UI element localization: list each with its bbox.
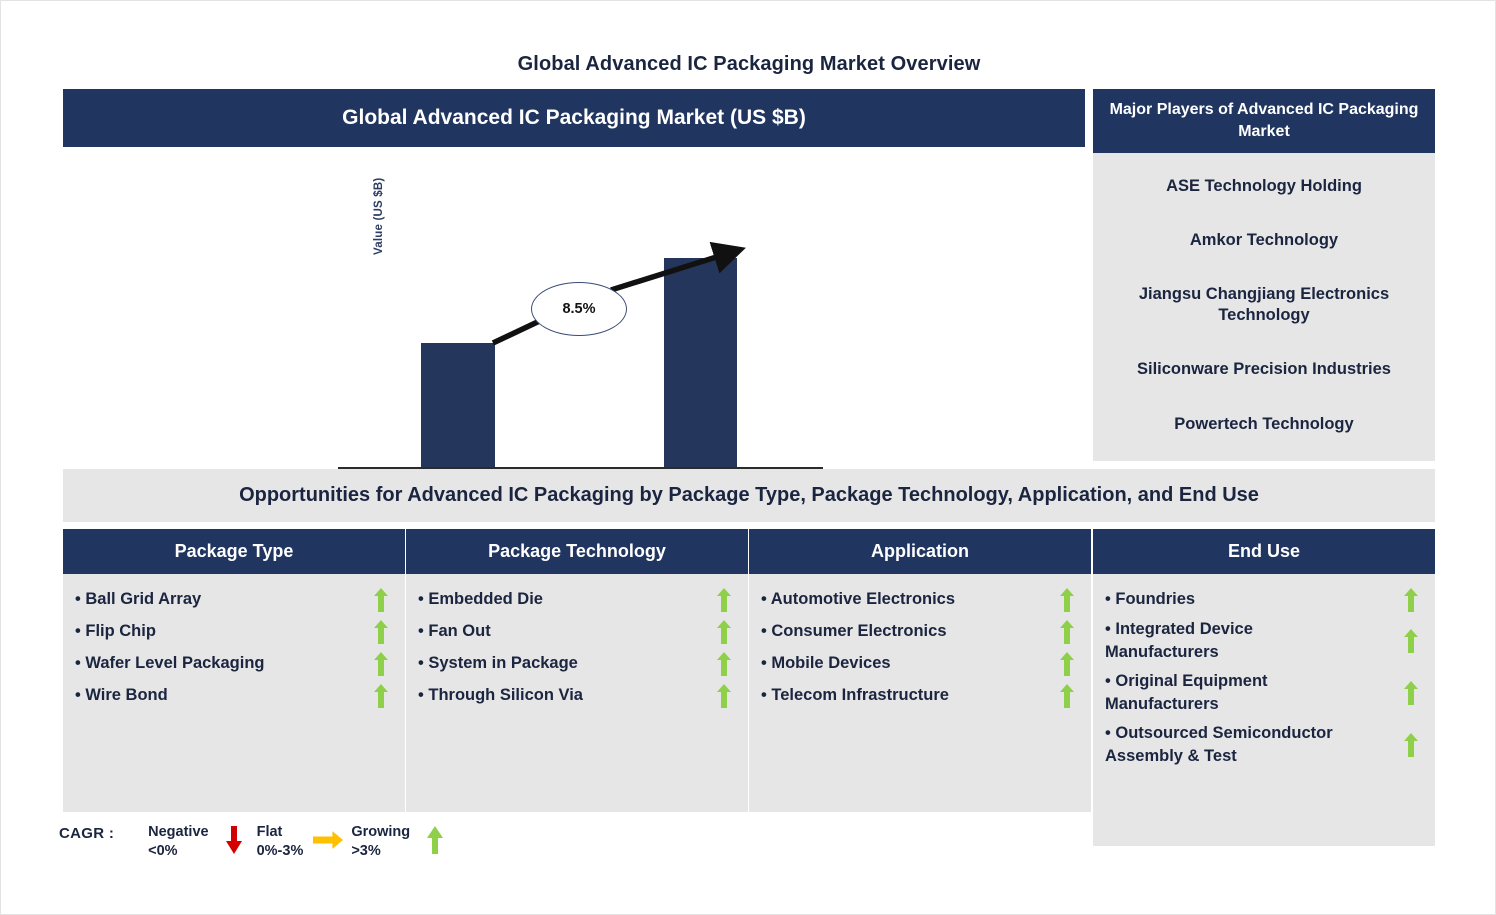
- column-header-application: Application: [749, 529, 1091, 574]
- trend-arrow-up-icon: [369, 620, 393, 644]
- arrow-down-red-icon: [219, 823, 249, 857]
- list-item-line1: • Outsourced Semiconductor: [1105, 722, 1333, 745]
- list-item-label: • Fan Out: [418, 620, 499, 643]
- legend-entry-text: Growing >3%: [351, 823, 410, 861]
- list-item: Siliconware Precision Industries: [1103, 359, 1425, 380]
- trend-arrow-up-icon: [1055, 620, 1079, 644]
- legend-entry-label: Negative: [148, 824, 208, 840]
- trend-arrow-up-icon: [369, 588, 393, 612]
- trend-arrow-up-icon: [1055, 652, 1079, 676]
- chart-y-axis-label: Value (US $B): [373, 135, 385, 255]
- trend-arrow-up-icon: [369, 652, 393, 676]
- list-item-label: • Outsourced Semiconductor Assembly & Te…: [1105, 722, 1341, 769]
- market-chart-panel: Global Advanced IC Packaging Market (US …: [63, 89, 1085, 461]
- list-item-label: • System in Package: [418, 652, 586, 675]
- list-item: • Automotive Electronics: [761, 586, 1079, 613]
- column-package-type: Package Type • Ball Grid Array • Flip Ch…: [63, 529, 405, 812]
- column-body-application: • Automotive Electronics • Consumer Elec…: [749, 574, 1091, 812]
- arrow-up-green-icon: [420, 823, 450, 857]
- market-chart-header-label: Global Advanced IC Packaging Market (US …: [342, 106, 806, 130]
- column-header-label: Package Technology: [488, 541, 666, 562]
- list-item: • Wafer Level Packaging: [75, 650, 393, 677]
- bar-2025: [421, 343, 495, 467]
- market-chart-body: Value (US $B) 2025 2031 8.5% Source : Lu…: [63, 147, 1085, 461]
- bar-2031: [664, 258, 737, 467]
- legend-entry-growing: Growing >3%: [351, 823, 450, 861]
- legend-entry-text: Flat 0%-3%: [257, 823, 304, 861]
- trend-arrow-up-icon: [712, 588, 736, 612]
- list-item: • Outsourced Semiconductor Assembly & Te…: [1105, 722, 1423, 769]
- cagr-value-bubble: 8.5%: [531, 282, 627, 336]
- list-item: • Ball Grid Array: [75, 586, 393, 613]
- column-package-technology: Package Technology • Embedded Die • Fan …: [406, 529, 748, 812]
- column-end-use: End Use • Foundries • Integrated Device …: [1093, 529, 1435, 846]
- list-item-label: • Foundries: [1105, 588, 1203, 611]
- list-item: • Consumer Electronics: [761, 618, 1079, 645]
- major-players-header-label: Major Players of Advanced IC Packaging M…: [1110, 101, 1419, 140]
- page-title: Global Advanced IC Packaging Market Over…: [1, 53, 1496, 76]
- list-item: ASE Technology Holding: [1103, 176, 1425, 197]
- column-header-package-technology: Package Technology: [406, 529, 748, 574]
- list-item: Amkor Technology: [1103, 230, 1425, 251]
- arrow-right-yellow-icon: [313, 823, 343, 857]
- cagr-legend-title: CAGR :: [59, 823, 114, 842]
- trend-arrow-up-icon: [1399, 629, 1423, 653]
- list-item-label: • Integrated Device Manufacturers: [1105, 618, 1261, 665]
- column-body-end-use: • Foundries • Integrated Device Manufact…: [1093, 574, 1435, 846]
- list-item-label: • Ball Grid Array: [75, 588, 209, 611]
- trend-arrow-up-icon: [1055, 588, 1079, 612]
- trend-arrow-up-icon: [712, 652, 736, 676]
- list-item-label: • Flip Chip: [75, 620, 164, 643]
- legend-entry-flat: Flat 0%-3%: [257, 823, 344, 861]
- list-item: • Fan Out: [418, 618, 736, 645]
- list-item: • Wire Bond: [75, 682, 393, 709]
- column-header-label: End Use: [1228, 541, 1300, 562]
- cagr-value-label: 8.5%: [562, 301, 595, 317]
- major-players-list: ASE Technology Holding Amkor Technology …: [1093, 153, 1435, 461]
- market-chart-header: Global Advanced IC Packaging Market (US …: [63, 89, 1085, 147]
- list-item-line1: • Original Equipment: [1105, 670, 1268, 693]
- list-item: • Foundries: [1105, 586, 1423, 613]
- list-item: • Through Silicon Via: [418, 682, 736, 709]
- list-item: • Integrated Device Manufacturers: [1105, 618, 1423, 665]
- list-item-label: • Telecom Infrastructure: [761, 684, 957, 707]
- list-item: • Flip Chip: [75, 618, 393, 645]
- column-header-package-type: Package Type: [63, 529, 405, 574]
- list-item-label: • Original Equipment Manufacturers: [1105, 670, 1276, 717]
- major-players-header: Major Players of Advanced IC Packaging M…: [1093, 89, 1435, 153]
- trend-arrow-up-icon: [1399, 681, 1423, 705]
- legend-entry-range: <0%: [148, 842, 208, 861]
- list-item-line2: Manufacturers: [1105, 641, 1253, 664]
- list-item-line2: Manufacturers: [1105, 693, 1268, 716]
- trend-arrow-up-icon: [712, 684, 736, 708]
- list-item: • Embedded Die: [418, 586, 736, 613]
- legend-entry-range: >3%: [351, 842, 410, 861]
- list-item: • Telecom Infrastructure: [761, 682, 1079, 709]
- list-item-line1: • Foundries: [1105, 590, 1195, 608]
- trend-arrow-up-icon: [712, 620, 736, 644]
- list-item: Powertech Technology: [1103, 414, 1425, 435]
- list-item-line1: • Integrated Device: [1105, 618, 1253, 641]
- trend-arrow-up-icon: [1055, 684, 1079, 708]
- column-header-label: Application: [871, 541, 969, 562]
- trend-arrow-up-icon: [369, 684, 393, 708]
- list-item: Jiangsu Changjiang Electronics Technolog…: [1103, 284, 1425, 325]
- column-body-package-type: • Ball Grid Array • Flip Chip • Wafer Le…: [63, 574, 405, 812]
- infographic-page: Global Advanced IC Packaging Market Over…: [0, 0, 1496, 915]
- column-body-package-technology: • Embedded Die • Fan Out • System in Pac…: [406, 574, 748, 812]
- opportunities-banner: Opportunities for Advanced IC Packaging …: [63, 469, 1435, 522]
- list-item-label: • Mobile Devices: [761, 652, 899, 675]
- legend-entry-label: Growing: [351, 824, 410, 840]
- major-players-panel: Major Players of Advanced IC Packaging M…: [1093, 89, 1435, 461]
- column-header-label: Package Type: [175, 541, 294, 562]
- legend-entry-label: Flat: [257, 824, 283, 840]
- list-item-label: • Through Silicon Via: [418, 684, 591, 707]
- list-item: • System in Package: [418, 650, 736, 677]
- list-item-label: • Wire Bond: [75, 684, 176, 707]
- list-item-label: • Embedded Die: [418, 588, 551, 611]
- column-header-end-use: End Use: [1093, 529, 1435, 574]
- list-item-line2: Assembly & Test: [1105, 745, 1333, 768]
- list-item: • Original Equipment Manufacturers: [1105, 670, 1423, 717]
- opportunities-banner-label: Opportunities for Advanced IC Packaging …: [239, 484, 1259, 507]
- legend-entry-range: 0%-3%: [257, 842, 304, 861]
- list-item-label: • Consumer Electronics: [761, 620, 955, 643]
- trend-arrow-up-icon: [1399, 588, 1423, 612]
- cagr-legend: CAGR : Negative <0% Flat 0%-3% Growing >…: [59, 823, 458, 861]
- legend-entry-text: Negative <0%: [148, 823, 208, 861]
- list-item: • Mobile Devices: [761, 650, 1079, 677]
- trend-arrow-up-icon: [1399, 733, 1423, 757]
- column-application: Application • Automotive Electronics • C…: [749, 529, 1091, 812]
- legend-entry-negative: Negative <0%: [148, 823, 248, 861]
- list-item-label: • Wafer Level Packaging: [75, 652, 272, 675]
- list-item-label: • Automotive Electronics: [761, 588, 963, 611]
